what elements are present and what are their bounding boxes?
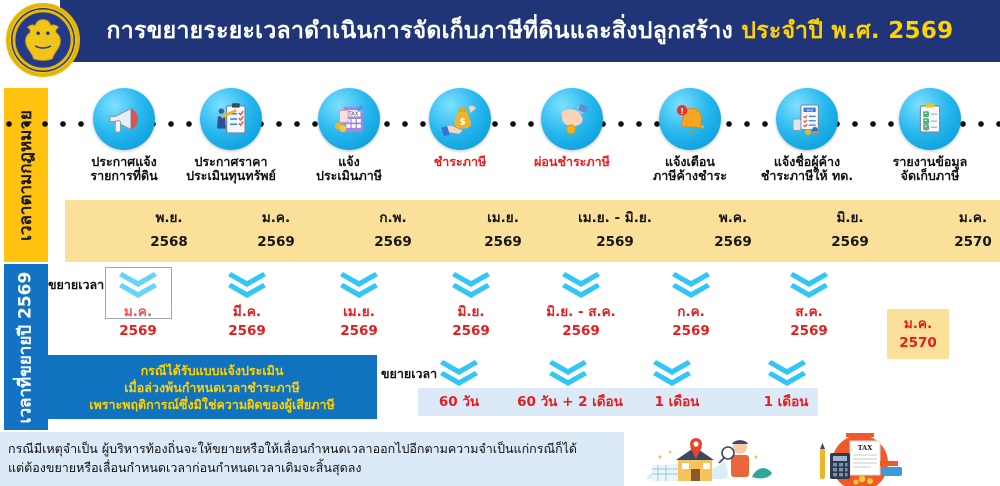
double-chevron-down-icon [672, 270, 710, 298]
extension-date-year: 2569 [299, 322, 419, 341]
clipboard-person-icon [200, 88, 262, 150]
extension-date-month: ส.ค. [749, 303, 869, 322]
svg-text:$: $ [460, 117, 466, 127]
statutory-date-4: เม.ย. 2569 [443, 206, 563, 254]
double-chevron-down-icon [452, 270, 490, 298]
process-step-7-label: แจ้งชื่อผู้ค้าง ชำระภาษีให้ ทด. [749, 155, 865, 183]
statutory-date-7: มิ.ย. 2569 [790, 206, 910, 254]
side-label-statutory: เวลาตามกฎหมาย [4, 88, 48, 262]
extension-date-6: ก.ค. 2569 [631, 303, 751, 341]
statutory-date-month: ก.พ. [333, 206, 453, 230]
statutory-date-8: ม.ค. 2570 [913, 206, 1000, 254]
extension-final-month: ม.ค. [904, 315, 932, 334]
bell-alert-icon: ! [659, 88, 721, 150]
extension-date-7: ส.ค. 2569 [749, 303, 869, 341]
extension-date-year: 2569 [631, 322, 751, 341]
extension-date-5: มิ.ย. - ส.ค. 2569 [521, 303, 641, 341]
extension-final-year: 2570 [899, 334, 937, 353]
extension-duration-4: 1 เดือน [745, 392, 827, 412]
step-label-line1: แจ้งเตือน [632, 155, 748, 169]
extension-date-month: ก.ค. [631, 303, 751, 322]
extension-date-month: มี.ค. [187, 303, 307, 322]
process-step-1-label: ประกาศแจ้ง รายการที่ดิน [66, 155, 182, 183]
infographic-root: การขยายระยะเวลาดำเนินการจัดเก็บภาษีที่ดิ… [0, 0, 1000, 486]
step-label-line2: รายการที่ดิน [66, 169, 182, 183]
double-chevron-down-icon [562, 270, 600, 298]
statutory-date-month: ม.ค. [216, 206, 336, 230]
process-step-3-label: แจ้ง ประเมินภาษี [291, 155, 407, 183]
step-label-line2: จัดเก็บภาษี [872, 169, 988, 183]
statutory-date-year: 2569 [333, 230, 453, 254]
statutory-date-2: ม.ค. 2569 [216, 206, 336, 254]
step-label-line1: ประกาศราคา [173, 155, 289, 169]
extension-row-1-label: ขยายเวลา [48, 275, 104, 295]
step-label-line2: ภาษีค้างชำระ [632, 169, 748, 183]
process-step-4[interactable]: $ ชำระภาษี [402, 88, 518, 169]
process-step-2-label: ประกาศราคา ประเมินทุนทรัพย์ [173, 155, 289, 183]
tax-checklist-icon: TAX [776, 88, 838, 150]
statutory-date-6: พ.ค. 2569 [673, 206, 793, 254]
process-step-7[interactable]: TAX แจ้งชื่อผู้ค้าง ชำระภาษีให้ ทด. [749, 88, 865, 183]
double-chevron-down-icon [768, 358, 806, 386]
extension-duration-1: 60 วัน [419, 392, 499, 412]
process-step-8[interactable]: รายงานข้อมูล จัดเก็บภาษี [872, 88, 988, 183]
step-label-line1: ชำระภาษี [402, 155, 518, 169]
double-chevron-down-icon [228, 270, 266, 298]
step-label-line1: แจ้ง [291, 155, 407, 169]
step-label-line1: แจ้งชื่อผู้ค้าง [749, 155, 865, 169]
extension-date-3: เม.ย. 2569 [299, 303, 419, 341]
statutory-date-month: เม.ย. - มิ.ย. [555, 206, 675, 230]
svg-text:TAX: TAX [858, 444, 874, 452]
selection-box[interactable] [105, 267, 172, 319]
double-chevron-down-icon [790, 270, 828, 298]
double-chevron-down-icon [653, 358, 691, 386]
extension-date-year: 2569 [411, 322, 531, 341]
process-step-5-label: ผ่อนชำระภาษี [514, 155, 630, 169]
process-step-2[interactable]: ประกาศราคา ประเมินทุนทรัพย์ [173, 88, 289, 183]
header-bar: การขยายระยะเวลาดำเนินการจัดเก็บภาษีที่ดิ… [60, 0, 1000, 62]
side-label-statutory-text: เวลาตามกฎหมาย [18, 110, 35, 241]
extension-date-2: มี.ค. 2569 [187, 303, 307, 341]
step-label-line2: ชำระภาษีให้ ทด. [749, 169, 865, 183]
coin-hand-icon [541, 88, 603, 150]
garuda-emblem-icon [6, 3, 80, 77]
double-chevron-down-icon [549, 358, 587, 386]
tax-document-calculator-illustration-icon: TAX [800, 431, 930, 486]
bottom-note-line1: กรณีมีเหตุจำเป็น ผู้บริหารท้องถิ่นจะให้ข… [8, 439, 616, 458]
step-label-line1: รายงานข้อมูล [872, 155, 988, 169]
tax-form-icon: TAX [318, 88, 380, 150]
statutory-date-year: 2569 [790, 230, 910, 254]
step-label-line2: ประเมินภาษี [291, 169, 407, 183]
bottom-note-box: กรณีมีเหตุจำเป็น ผู้บริหารท้องถิ่นจะให้ข… [0, 432, 624, 486]
statutory-date-year: 2569 [216, 230, 336, 254]
page-title-main: การขยายระยะเวลาดำเนินการจัดเก็บภาษีที่ดิ… [107, 18, 734, 44]
svg-text:TAX: TAX [805, 107, 814, 112]
house-surveyor-illustration-icon [636, 431, 786, 486]
statutory-date-year: 2568 [109, 230, 229, 254]
statutory-date-month: มิ.ย. [790, 206, 910, 230]
extension-date-year: 2569 [78, 322, 198, 341]
process-step-row: ประกาศแจ้ง รายการที่ดิน ประกาศราคา ประเม… [62, 88, 1000, 200]
extension-date-month: เม.ย. [299, 303, 419, 322]
extension-date-year: 2569 [187, 322, 307, 341]
bottom-note-line2: แต่ต้องขยายหรือเลื่อนกำหนดเวลาก่อนกำหนดเ… [8, 458, 616, 477]
statutory-date-5: เม.ย. - มิ.ย. 2569 [555, 206, 675, 254]
statutory-date-1: พ.ย. 2568 [109, 206, 229, 254]
statutory-dates-band: พ.ย. 2568 ม.ค. 2569 ก.พ. 2569 เม.ย. 2569… [65, 200, 1000, 262]
page-title: การขยายระยะเวลาดำเนินการจัดเก็บภาษีที่ดิ… [107, 20, 954, 43]
statutory-date-year: 2569 [555, 230, 675, 254]
step-label-line1: ผ่อนชำระภาษี [514, 155, 630, 169]
extension-duration-3: 1 เดือน [636, 392, 718, 412]
process-step-8-label: รายงานข้อมูล จัดเก็บภาษี [872, 155, 988, 183]
statutory-date-month: พ.ย. [109, 206, 229, 230]
extension-date-year: 2569 [521, 322, 641, 341]
statutory-date-year: 2569 [443, 230, 563, 254]
step-label-line2: ประเมินทุนทรัพย์ [173, 169, 289, 183]
process-step-6[interactable]: ! แจ้งเตือน ภาษีค้างชำระ [632, 88, 748, 183]
svg-text:!: ! [680, 107, 684, 116]
money-bag-hand-icon: $ [429, 88, 491, 150]
statutory-date-3: ก.พ. 2569 [333, 206, 453, 254]
svg-text:TAX: TAX [347, 112, 358, 118]
report-clipboard-icon [899, 88, 961, 150]
statutory-date-month: ม.ค. [913, 206, 1000, 230]
process-step-5[interactable]: ผ่อนชำระภาษี [514, 88, 630, 169]
double-chevron-down-icon [440, 358, 478, 386]
extension-date-month: มิ.ย. - ส.ค. [521, 303, 641, 322]
statutory-date-month: เม.ย. [443, 206, 563, 230]
process-step-4-label: ชำระภาษี [402, 155, 518, 169]
double-chevron-down-icon [340, 270, 378, 298]
extension-row-2-label: ขยายเวลา [381, 364, 437, 384]
process-step-3[interactable]: TAX แจ้ง ประเมินภาษี [291, 88, 407, 183]
page-title-highlight: ประจำปี พ.ศ. 2569 [741, 18, 953, 44]
process-step-1[interactable]: ประกาศแจ้ง รายการที่ดิน [66, 88, 182, 183]
statutory-date-month: พ.ค. [673, 206, 793, 230]
megaphone-icon [93, 88, 155, 150]
extension-duration-2: 60 วัน + 2 เดือน [505, 392, 635, 412]
statutory-date-year: 2569 [673, 230, 793, 254]
extension-date-4: มิ.ย. 2569 [411, 303, 531, 341]
extension-date-year: 2569 [749, 322, 869, 341]
statutory-date-year: 2570 [913, 230, 1000, 254]
extension-date-month: มิ.ย. [411, 303, 531, 322]
process-step-6-label: แจ้งเตือน ภาษีค้างชำระ [632, 155, 748, 183]
step-label-line1: ประกาศแจ้ง [66, 155, 182, 169]
